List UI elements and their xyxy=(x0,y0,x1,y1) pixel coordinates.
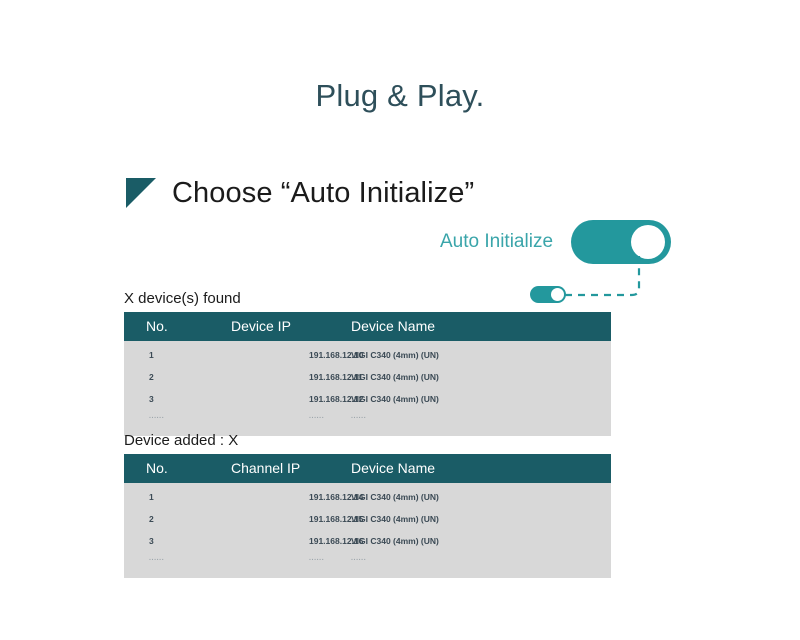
cell-no: 2 xyxy=(124,366,226,388)
column-header-device-name: Device Name xyxy=(351,454,611,483)
table-row[interactable]: 1191.168.12.10VIGI C340 (4mm) (UN) xyxy=(124,341,611,366)
cell-no: 1 xyxy=(124,341,226,366)
auto-initialize-label: Auto Initialize xyxy=(440,231,553,253)
callout-toggle[interactable] xyxy=(530,286,566,303)
cell-device-name: VIGI C340 (4mm) (UN) xyxy=(351,508,611,530)
table-row[interactable]: 3191.168.12.16VIGI C340 (4mm) (UN) xyxy=(124,530,611,552)
cell-no: 3 xyxy=(124,530,226,552)
section-heading-label: Choose “Auto Initialize” xyxy=(172,177,474,210)
table-row[interactable]: 2191.168.12.15VIGI C340 (4mm) (UN) xyxy=(124,508,611,530)
table-header-row: No. Device IP Device Name xyxy=(124,312,611,341)
auto-initialize-toggle[interactable] xyxy=(571,220,671,264)
column-header-no: No. xyxy=(124,312,226,341)
table-row[interactable]: .................. xyxy=(124,552,611,578)
column-header-device-ip: Device IP xyxy=(226,312,351,341)
found-table-body: 1191.168.12.10VIGI C340 (4mm) (UN)2191.1… xyxy=(124,341,611,436)
cell-ip: 191.168.12.14 xyxy=(226,483,351,508)
cell-device-name: VIGI C340 (4mm) (UN) xyxy=(351,530,611,552)
toggle-knob-icon xyxy=(631,225,665,259)
found-table-head: No. Device IP Device Name xyxy=(124,312,611,341)
table-row[interactable]: 3191.168.12.12VIGI C340 (4mm) (UN) xyxy=(124,388,611,410)
page-root: Plug & Play. Choose “Auto Initialize” Au… xyxy=(0,0,800,640)
cell-ip: ...... xyxy=(226,410,351,436)
found-devices-table: No. Device IP Device Name 1191.168.12.10… xyxy=(124,312,611,436)
cell-ip: ...... xyxy=(226,552,351,578)
cell-ip: 191.168.12.10 xyxy=(226,341,351,366)
flag-triangle-icon xyxy=(124,176,158,210)
section-heading: Choose “Auto Initialize” xyxy=(124,176,474,210)
cell-no: 1 xyxy=(124,483,226,508)
added-devices-table: No. Channel IP Device Name 1191.168.12.1… xyxy=(124,454,611,578)
cell-device-name: ...... xyxy=(351,552,611,578)
cell-device-name: VIGI C340 (4mm) (UN) xyxy=(351,483,611,508)
auto-initialize-row: Auto Initialize xyxy=(440,220,671,264)
cell-device-name: VIGI C340 (4mm) (UN) xyxy=(351,388,611,410)
cell-device-name: ...... xyxy=(351,410,611,436)
cell-device-name: VIGI C340 (4mm) (UN) xyxy=(351,366,611,388)
cell-ip: 191.168.12.16 xyxy=(226,530,351,552)
table-row[interactable]: 2191.168.12.11VIGI C340 (4mm) (UN) xyxy=(124,366,611,388)
added-table-body: 1191.168.12.14VIGI C340 (4mm) (UN)2191.1… xyxy=(124,483,611,578)
added-table-caption: Device added : X xyxy=(124,432,238,449)
table-header-row: No. Channel IP Device Name xyxy=(124,454,611,483)
column-header-channel-ip: Channel IP xyxy=(226,454,351,483)
column-header-no: No. xyxy=(124,454,226,483)
page-title: Plug & Play. xyxy=(0,78,800,114)
cell-device-name: VIGI C340 (4mm) (UN) xyxy=(351,341,611,366)
cell-ip: 191.168.12.15 xyxy=(226,508,351,530)
added-table-head: No. Channel IP Device Name xyxy=(124,454,611,483)
cell-ip: 191.168.12.11 xyxy=(226,366,351,388)
cell-no: 3 xyxy=(124,388,226,410)
cell-no: ...... xyxy=(124,552,226,578)
table-row[interactable]: 1191.168.12.14VIGI C340 (4mm) (UN) xyxy=(124,483,611,508)
cell-no: 2 xyxy=(124,508,226,530)
column-header-device-name: Device Name xyxy=(351,312,611,341)
cell-ip: 191.168.12.12 xyxy=(226,388,351,410)
found-table-caption: X device(s) found xyxy=(124,290,241,307)
toggle-knob-small-icon xyxy=(551,288,564,301)
